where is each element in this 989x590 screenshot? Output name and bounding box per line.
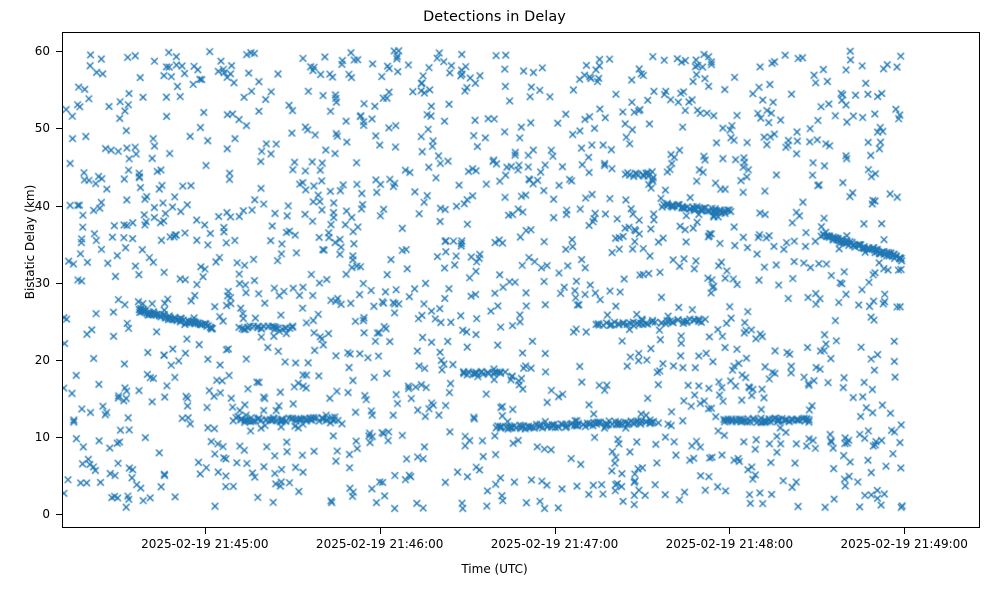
y-tick-label: 40 [35,199,50,213]
plot-area[interactable] [62,32,980,528]
figure-canvas: Detections in Delay 0102030405060 2025-0… [0,0,989,590]
y-tick-mark [56,128,62,129]
y-tick-label: 10 [35,430,50,444]
chart-title: Detections in Delay [0,9,989,25]
y-tick-label: 30 [35,276,50,290]
y-tick-label: 20 [35,353,50,367]
x-tick-mark [555,528,556,534]
x-tick-mark [380,528,381,534]
x-tick-label: 2025-02-19 21:48:00 [666,537,793,551]
y-tick-mark [56,360,62,361]
x-tick-mark [729,528,730,534]
y-tick-mark [56,437,62,438]
y-tick-label: 50 [35,121,50,135]
x-tick-mark [904,528,905,534]
y-tick-mark [56,283,62,284]
x-tick-label: 2025-02-19 21:45:00 [141,537,268,551]
x-tick-mark [205,528,206,534]
x-tick-label: 2025-02-19 21:46:00 [316,537,443,551]
y-tick-label: 0 [42,507,50,521]
y-tick-mark [56,206,62,207]
y-tick-label: 60 [35,44,50,58]
y-tick-mark [56,514,62,515]
y-axis-label: Bistatic Delay (km) [23,92,37,392]
x-axis-label: Time (UTC) [0,562,989,576]
scatter-points-layer [63,33,979,527]
y-tick-mark [56,51,62,52]
x-tick-label: 2025-02-19 21:49:00 [840,537,967,551]
x-tick-label: 2025-02-19 21:47:00 [491,537,618,551]
